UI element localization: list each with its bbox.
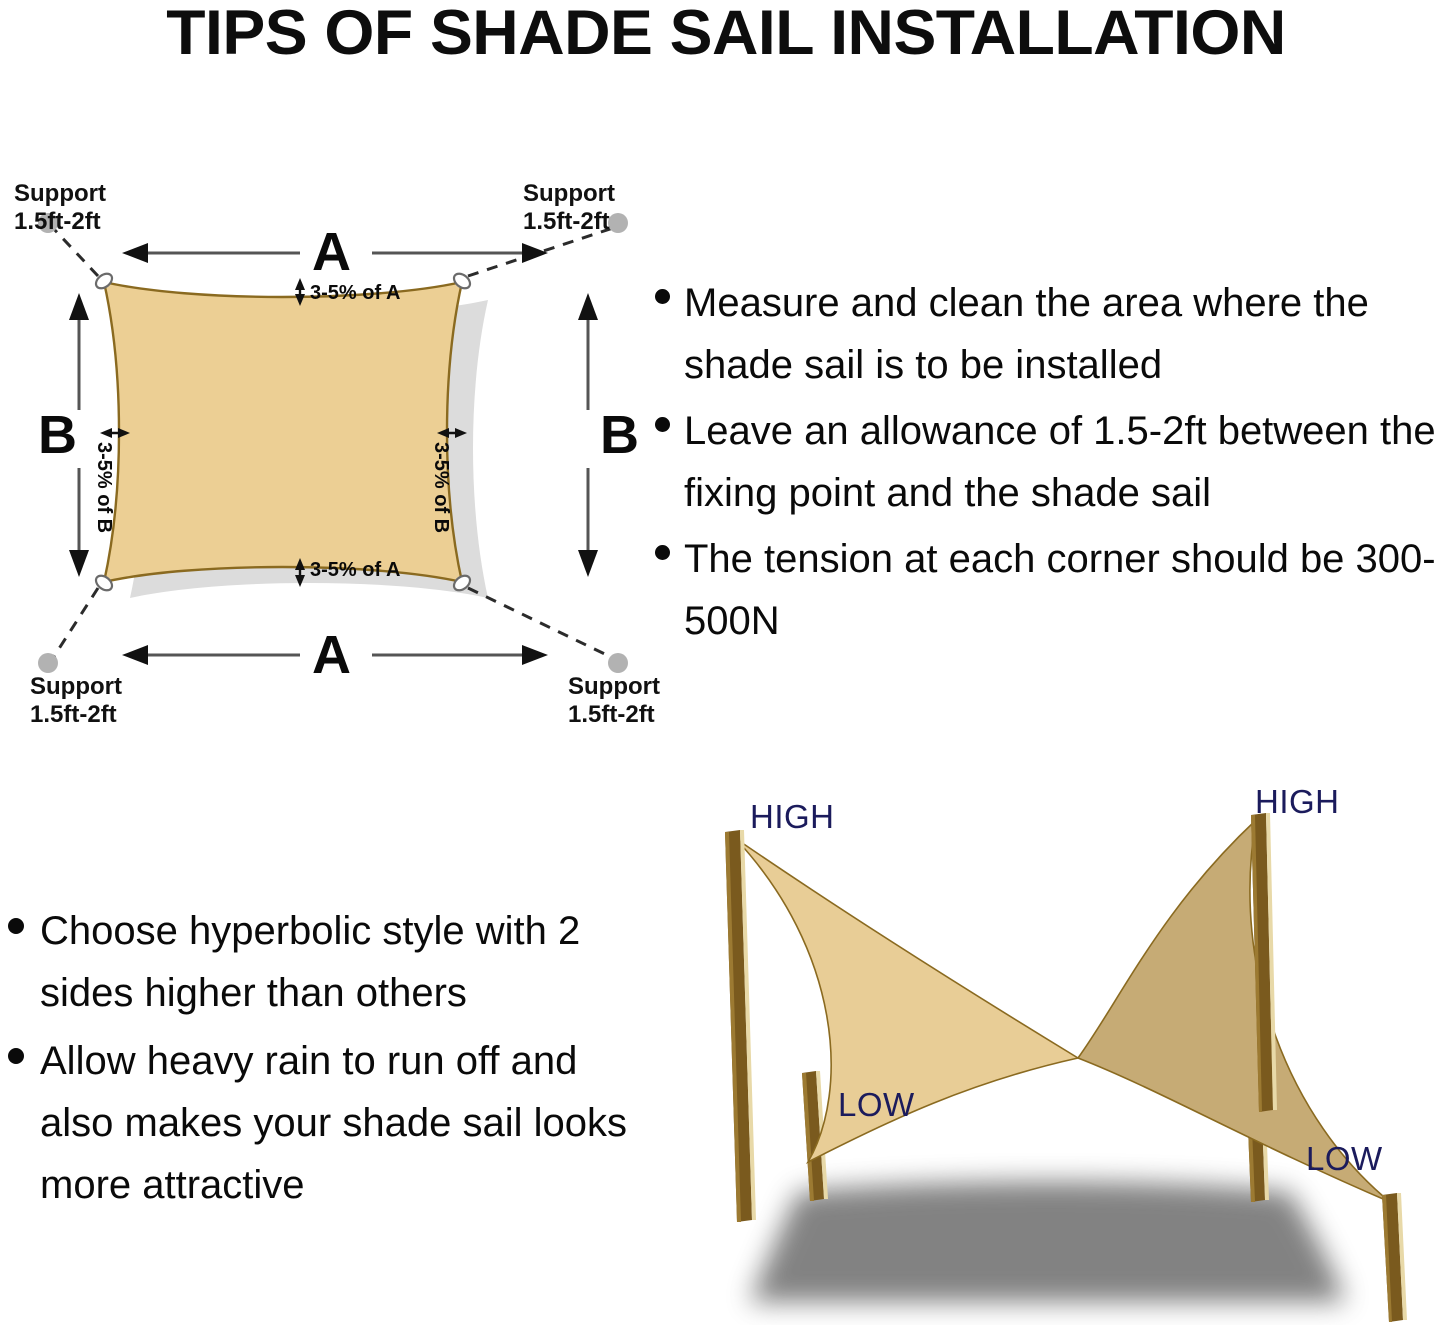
list-item-text: Choose hyperbolic style with 2 sides hig… [40, 900, 628, 1024]
dimension-letter-top-a: A [312, 225, 351, 279]
arrowhead-bottom-a-left [122, 645, 148, 665]
page-title: TIPS OF SHADE SAIL INSTALLATION [0, 0, 1452, 68]
sail-body [104, 282, 462, 582]
support-label-top-left: Support 1.5ft-2ft [14, 180, 106, 236]
list-item: Allow heavy rain to run off and also mak… [8, 1030, 628, 1216]
curvature-label-top: 3-5% of A [310, 282, 400, 304]
list-item: Leave an allowance of 1.5-2ft between th… [655, 400, 1452, 524]
label-high-left: HIGH [750, 800, 835, 833]
support-label-bottom-right: Support 1.5ft-2ft [568, 673, 660, 729]
support-label-top-right: Support 1.5ft-2ft [523, 180, 615, 236]
list-item-text: Leave an allowance of 1.5-2ft between th… [684, 400, 1452, 524]
support-label-bottom-left: Support 1.5ft-2ft [30, 673, 122, 729]
arrowhead-bottom-a-right [522, 645, 548, 665]
hyperbolic-sail-graphic [690, 790, 1452, 1325]
label-low-left: LOW [838, 1088, 915, 1121]
curvature-label-left: 3-5% of B [93, 442, 115, 533]
label-low-right: LOW [1306, 1142, 1383, 1175]
bullet-dot-icon [655, 289, 670, 304]
arrowhead-left-b-top [69, 293, 89, 320]
rectangular-sail-diagram: Support 1.5ft-2ft Support 1.5ft-2ft Supp… [0, 150, 680, 730]
installation-tips-list: Measure and clean the area where the sha… [655, 272, 1452, 656]
arrowhead-right-b-top [578, 293, 598, 320]
bullet-dot-icon [8, 1048, 24, 1064]
dimension-letter-bottom-a: A [312, 628, 351, 682]
list-item: The tension at each corner should be 300… [655, 528, 1452, 652]
dimension-letter-left-b: B [38, 408, 77, 462]
post-high-left [725, 830, 756, 1222]
arrowhead-left-b-bottom [69, 550, 89, 577]
post-low-right [1382, 1193, 1407, 1322]
curvature-arrowhead-left-out [100, 428, 112, 438]
hyperbolic-style-tips-list: Choose hyperbolic style with 2 sides hig… [8, 900, 628, 1222]
arrowhead-right-b-bottom [578, 550, 598, 577]
list-item-text: Allow heavy rain to run off and also mak… [40, 1030, 628, 1216]
curvature-label-right: 3-5% of B [430, 442, 452, 533]
infographic-page: TIPS OF SHADE SAIL INSTALLATION [0, 0, 1452, 1325]
curvature-label-bottom: 3-5% of A [310, 559, 400, 581]
bullet-dot-icon [655, 545, 670, 560]
hyperbolic-sail-diagram: HIGH HIGH LOW LOW [690, 790, 1452, 1325]
bullet-dot-icon [8, 918, 24, 934]
dimension-letter-right-b: B [600, 408, 639, 462]
label-high-right: HIGH [1255, 785, 1340, 818]
arrowhead-top-a-left [122, 243, 148, 263]
list-item: Choose hyperbolic style with 2 sides hig… [8, 900, 628, 1024]
curvature-arrowhead-top-up [295, 278, 305, 290]
bullet-dot-icon [655, 417, 670, 432]
list-item-text: The tension at each corner should be 300… [684, 528, 1452, 652]
list-item-text: Measure and clean the area where the sha… [684, 272, 1452, 396]
arrowhead-top-a-right [522, 243, 548, 263]
list-item: Measure and clean the area where the sha… [655, 272, 1452, 396]
